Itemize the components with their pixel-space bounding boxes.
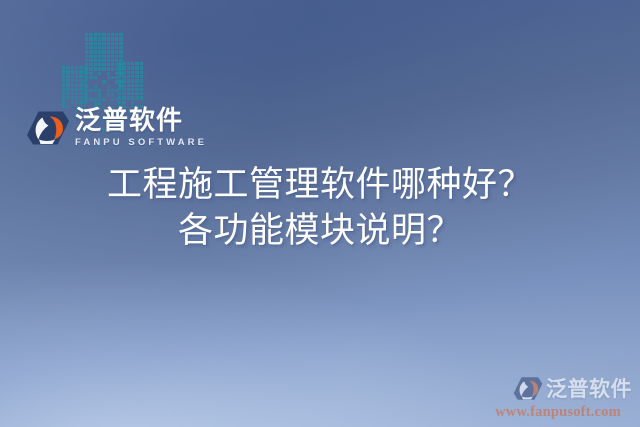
promo-banner: 泛普软件 FANPU SOFTWARE 工程施工管理软件哪种好？ 各功能模块说明… bbox=[0, 0, 640, 427]
brand-name-en: FANPU SOFTWARE bbox=[75, 137, 207, 148]
page-title-line-1: 工程施工管理软件哪种好？ bbox=[0, 162, 640, 208]
page-title: 工程施工管理软件哪种好？ 各功能模块说明？ bbox=[0, 162, 640, 254]
brand-wordmark: 泛普软件 FANPU SOFTWARE bbox=[75, 108, 207, 148]
brand-logo-lockup: 泛普软件 FANPU SOFTWARE bbox=[26, 108, 207, 148]
page-title-line-2: 各功能模块说明？ bbox=[0, 208, 640, 254]
brand-name-cn: 泛普软件 bbox=[75, 108, 207, 135]
fanpu-hexagon-swoosh-logo-icon bbox=[26, 110, 70, 146]
